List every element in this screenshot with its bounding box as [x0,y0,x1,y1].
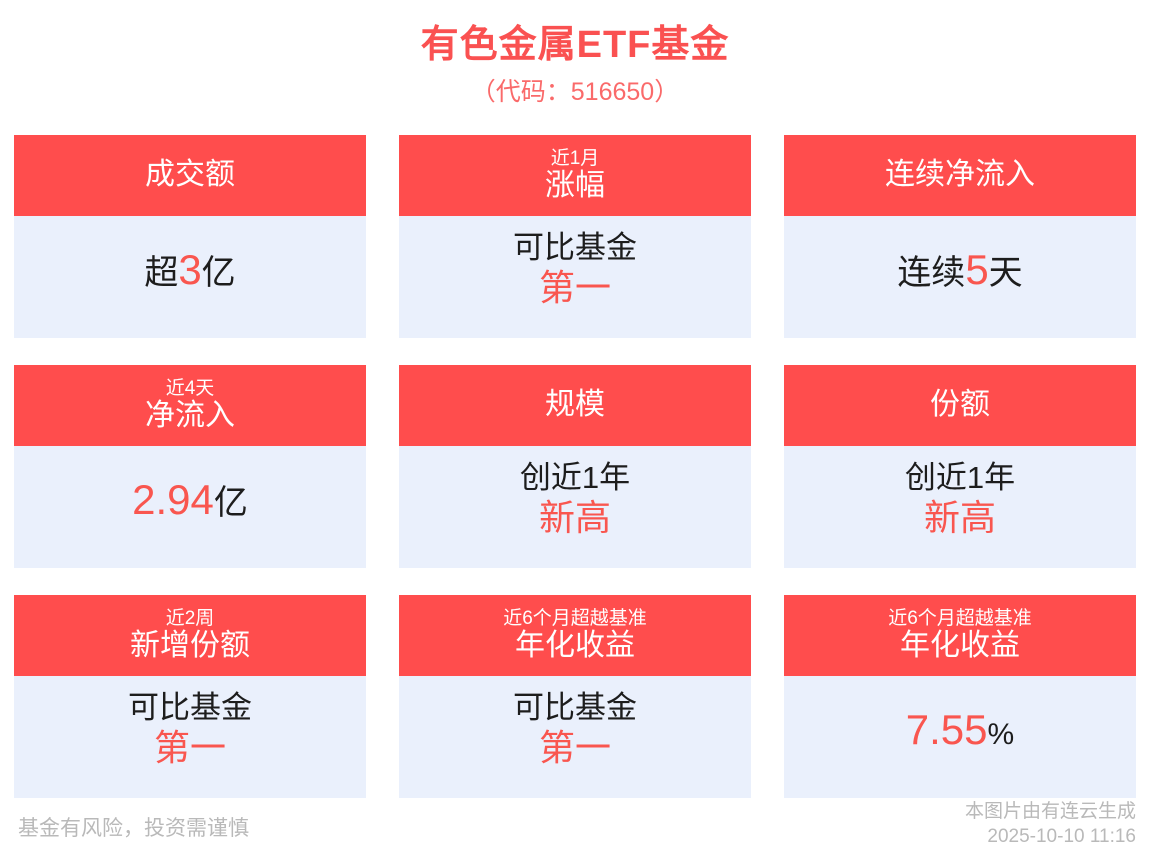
metric-card-title: 年化收益 [515,630,635,662]
metric-card-title: 新增份额 [130,630,250,662]
metric-card: 近2周 新增份额 可比基金 第一 [14,595,366,798]
metric-card-title: 涨幅 [545,170,605,202]
metric-value-accent: 7.55 [906,706,988,753]
metric-card: 连续净流入 连续5天 [784,135,1136,338]
metric-card-title: 连续净流入 [885,159,1035,191]
generation-credit: 本图片由有连云生成 2025-10-10 11:16 [965,799,1136,850]
metric-card-body: 可比基金 第一 [399,676,751,798]
metric-card: 成交额 超3亿 [14,135,366,338]
metric-value-label: 创近1年 [905,460,1015,497]
page-footer: 基金有风险，投资需谨慎 本图片由有连云生成 2025-10-10 11:16 [0,794,1150,860]
metric-card: 份额 创近1年 新高 [784,365,1136,568]
metric-card: 近1月 涨幅 可比基金 第一 [399,135,751,338]
credit-source: 本图片由有连云生成 [965,799,1136,825]
metric-value: 7.55% [906,705,1014,755]
metric-value-prefix: 连续 [897,254,965,292]
metric-value: 超3亿 [144,245,235,295]
metric-card-header: 近6个月超越基准 年化收益 [784,595,1136,676]
metric-card-header: 近6个月超越基准 年化收益 [399,595,751,676]
metric-value-label: 可比基金 [513,690,637,727]
metric-card: 近6个月超越基准 年化收益 可比基金 第一 [399,595,751,798]
metric-value-prefix: 超 [144,254,178,292]
fund-code-subtitle: （代码：516650） [0,74,1150,112]
metric-value: 第一 [154,727,226,769]
metric-card-body: 可比基金 第一 [14,676,366,798]
metric-card-body: 2.94亿 [14,446,366,568]
page-title: 有色金属ETF基金 [0,22,1150,70]
metric-value-label: 创近1年 [520,460,630,497]
metric-card-title: 年化收益 [900,630,1020,662]
metric-card-period: 近1月 [551,149,600,169]
metric-card: 规模 创近1年 新高 [399,365,751,568]
metric-value: 新高 [539,497,611,539]
metric-card-body: 创近1年 新高 [784,446,1136,568]
metric-value: 2.94亿 [132,475,248,525]
metric-card-header: 连续净流入 [784,135,1136,216]
metric-card-title: 份额 [930,389,990,421]
metric-card-header: 成交额 [14,135,366,216]
metric-card-period: 近2周 [166,609,215,629]
metric-value-label: 可比基金 [128,690,252,727]
metric-card-body: 创近1年 新高 [399,446,751,568]
metric-card-header: 份额 [784,365,1136,446]
metric-value-label: 可比基金 [513,230,637,267]
metric-card-period: 近6个月超越基准 [888,609,1032,629]
metric-card-header: 近2周 新增份额 [14,595,366,676]
metric-card-period: 近4天 [166,379,215,399]
risk-disclaimer: 基金有风险，投资需谨慎 [18,812,249,842]
metric-card-title: 规模 [545,389,605,421]
metric-value-accent: 5 [965,246,988,293]
metric-value: 新高 [924,497,996,539]
metric-card-header: 近1月 涨幅 [399,135,751,216]
metric-card: 近4天 净流入 2.94亿 [14,365,366,568]
metric-value-suffix: % [988,718,1015,751]
metric-value: 第一 [539,727,611,769]
metric-card-title: 成交额 [145,159,235,191]
metric-value-accent: 2.94 [132,476,214,523]
metric-value-suffix: 天 [989,254,1023,292]
metric-card-header: 规模 [399,365,751,446]
metric-card-body: 连续5天 [784,216,1136,338]
metric-card: 近6个月超越基准 年化收益 7.55% [784,595,1136,798]
metric-card-period: 近6个月超越基准 [503,609,647,629]
metric-value-suffix: 亿 [202,254,236,292]
metric-card-body: 7.55% [784,676,1136,798]
metric-card-header: 近4天 净流入 [14,365,366,446]
metric-value-suffix: 亿 [214,484,248,522]
metric-value: 连续5天 [897,245,1022,295]
page-header: 有色金属ETF基金 （代码：516650） [0,0,1150,111]
metric-value-accent: 3 [178,246,201,293]
credit-timestamp: 2025-10-10 11:16 [965,824,1136,850]
metric-card-body: 超3亿 [14,216,366,338]
metric-card-grid: 成交额 超3亿 近1月 涨幅 可比基金 第一 连续净流入 连续5天 近4天 净流… [14,135,1136,798]
metric-value: 第一 [539,267,611,309]
metric-card-body: 可比基金 第一 [399,216,751,338]
metric-card-title: 净流入 [145,400,235,432]
